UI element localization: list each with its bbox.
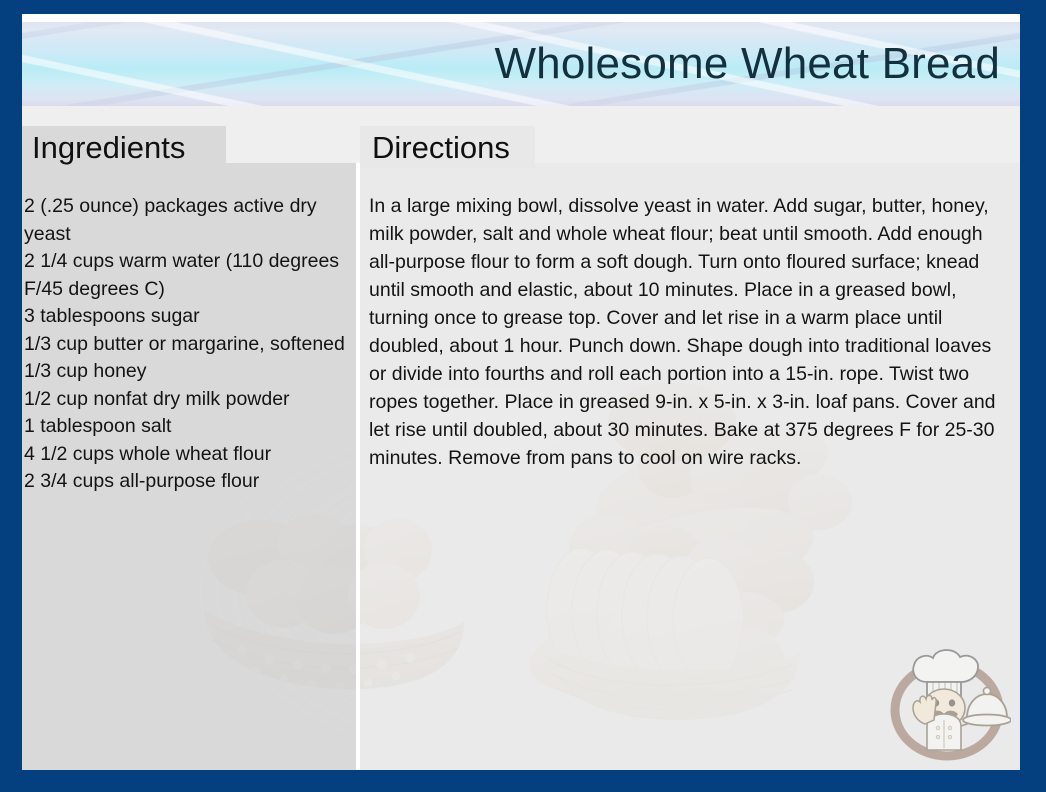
slide-border-right — [1020, 0, 1046, 792]
page-title: Wholesome Wheat Bread — [494, 39, 1000, 89]
slide-border-bottom — [0, 770, 1046, 792]
list-item: 2 1/4 cups warm water (110 degrees F/45 … — [22, 248, 346, 303]
panel-divider — [356, 163, 360, 770]
list-item: 1/3 cup butter or margarine, softened — [22, 331, 346, 359]
chef-with-cloche-icon — [883, 638, 1011, 764]
ingredients-list: 2 (.25 ounce) packages active dry yeast … — [22, 193, 346, 496]
slide-border-left — [0, 0, 22, 792]
recipe-slide: Wholesome Wheat Bread Ingredients Direct… — [0, 0, 1046, 792]
ingredients-header-tab: Ingredients — [22, 126, 226, 168]
list-item: 2 3/4 cups all-purpose flour — [22, 468, 346, 496]
title-banner: Wholesome Wheat Bread — [22, 22, 1022, 106]
ingredients-heading: Ingredients — [32, 132, 185, 163]
list-item: 2 (.25 ounce) packages active dry yeast — [22, 193, 346, 248]
list-item: 3 tablespoons sugar — [22, 303, 346, 331]
list-item: 1/2 cup nonfat dry milk powder — [22, 386, 346, 414]
list-item: 1/3 cup honey — [22, 358, 346, 386]
list-item: 1 tablespoon salt — [22, 413, 346, 441]
slide-border-top — [0, 0, 1046, 14]
directions-heading: Directions — [372, 132, 510, 163]
directions-header-tab: Directions — [360, 126, 535, 168]
chef-mascot-logo — [883, 638, 1011, 764]
directions-body: In a large mixing bowl, dissolve yeast i… — [369, 192, 1003, 472]
list-item: 4 1/2 cups whole wheat flour — [22, 441, 346, 469]
